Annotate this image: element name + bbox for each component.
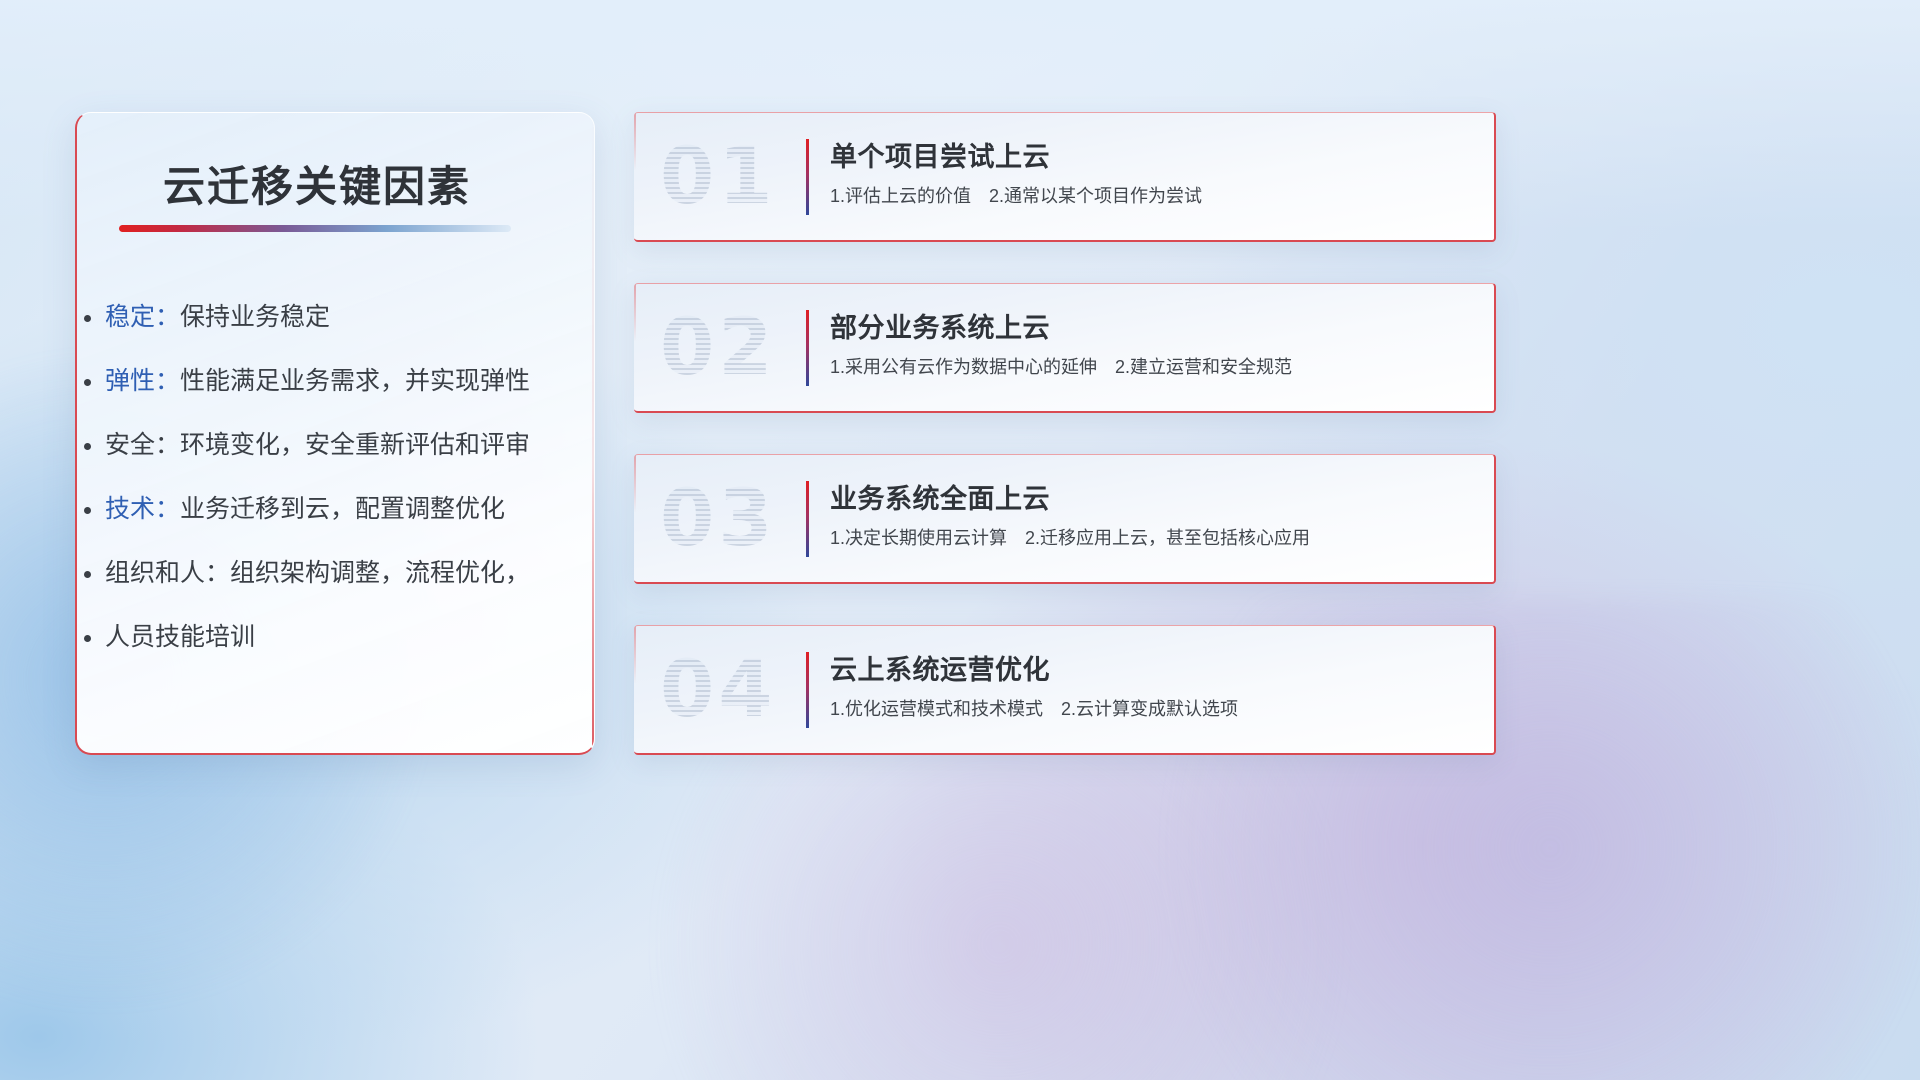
stage-subtitle: 1.采用公有云作为数据中心的延伸 2.建立运营和安全规范 [830,357,1474,379]
key-factor-text: 组织架构调整，流程优化， [230,559,530,587]
slide-stage: 云迁移关键因素 稳定：保持业务稳定弹性：性能满足业务需求，并实现弹性安全：环境变… [0,0,1920,1080]
key-factor-label: 组织和人： [105,559,230,587]
stage-card-body: 业务系统全面上云1.决定长期使用云计算 2.迁移应用上云，甚至包括核心应用 [830,483,1474,550]
key-factors-list: 稳定：保持业务稳定弹性：性能满足业务需求，并实现弹性安全：环境变化，安全重新评估… [105,305,576,650]
key-factor-item: 弹性：性能满足业务需求，并实现弹性 [105,369,576,394]
key-factor-item: 稳定：保持业务稳定 [105,305,576,330]
key-factor-label: 技术： [105,495,180,523]
stage-title: 部分业务系统上云 [830,312,1474,344]
key-factor-item: 技术：业务迁移到云，配置调整优化 [105,497,576,522]
stage-title: 单个项目尝试上云 [830,141,1474,173]
accent-bar [806,652,809,728]
stage-number-watermark: 02 [660,303,777,393]
key-factor-item: 安全：环境变化，安全重新评估和评审 [105,433,576,458]
stage-number-watermark: 03 [660,474,777,564]
stage-card[interactable]: 04云上系统运营优化1.优化运营模式和技术模式 2.云计算变成默认选项 [634,625,1496,755]
stage-title: 业务系统全面上云 [830,483,1474,515]
key-factor-item: 人员技能培训 [105,625,576,650]
key-factor-text: 人员技能培训 [105,623,255,651]
stage-subtitle: 1.评估上云的价值 2.通常以某个项目作为尝试 [830,186,1474,208]
key-factor-label: 安全： [105,431,180,459]
stage-card-body: 云上系统运营优化1.优化运营模式和技术模式 2.云计算变成默认选项 [830,654,1474,721]
stage-subtitle: 1.决定长期使用云计算 2.迁移应用上云，甚至包括核心应用 [830,528,1474,550]
stage-number-watermark: 01 [660,132,777,222]
stage-card-body: 部分业务系统上云1.采用公有云作为数据中心的延伸 2.建立运营和安全规范 [830,312,1474,379]
key-factor-label: 稳定： [105,303,180,331]
accent-bar [806,481,809,557]
stage-card[interactable]: 02部分业务系统上云1.采用公有云作为数据中心的延伸 2.建立运营和安全规范 [634,283,1496,413]
stage-number-watermark: 04 [660,645,777,735]
key-factors-panel: 云迁移关键因素 稳定：保持业务稳定弹性：性能满足业务需求，并实现弹性安全：环境变… [75,112,595,755]
page-title: 云迁移关键因素 [163,153,471,214]
key-factor-text: 保持业务稳定 [180,303,330,331]
key-factor-text: 环境变化，安全重新评估和评审 [180,431,530,459]
stage-card-list: 01单个项目尝试上云1.评估上云的价值 2.通常以某个项目作为尝试02部分业务系… [634,112,1496,755]
title-underline-rule [119,225,511,232]
stage-title: 云上系统运营优化 [830,654,1474,686]
key-factor-text: 业务迁移到云，配置调整优化 [180,495,505,523]
stage-card[interactable]: 01单个项目尝试上云1.评估上云的价值 2.通常以某个项目作为尝试 [634,112,1496,242]
key-factor-label: 弹性： [105,367,180,395]
key-factor-item: 组织和人：组织架构调整，流程优化， [105,561,576,586]
accent-bar [806,310,809,386]
accent-bar [806,139,809,215]
key-factor-text: 性能满足业务需求，并实现弹性 [180,367,530,395]
stage-card-body: 单个项目尝试上云1.评估上云的价值 2.通常以某个项目作为尝试 [830,141,1474,208]
stage-card[interactable]: 03业务系统全面上云1.决定长期使用云计算 2.迁移应用上云，甚至包括核心应用 [634,454,1496,584]
stage-subtitle: 1.优化运营模式和技术模式 2.云计算变成默认选项 [830,699,1474,721]
